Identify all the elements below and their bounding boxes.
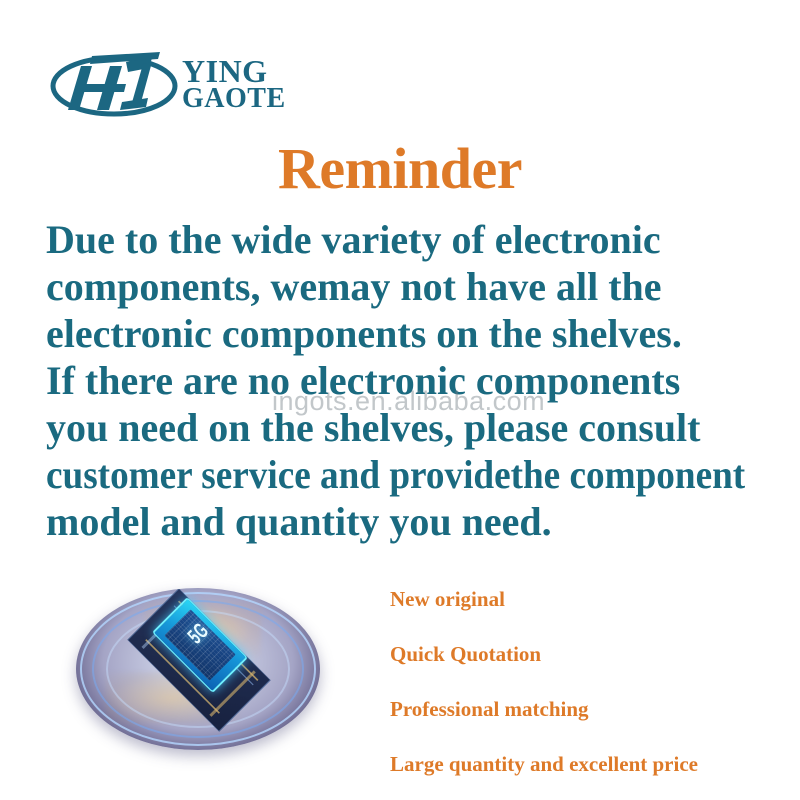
brand-wordmark: YING GAOTE xyxy=(182,56,332,113)
feature-item: Large quantity and excellent price xyxy=(390,737,790,792)
notice-line: components, wemay not have all the xyxy=(46,263,778,310)
notice-line: customer service and providethe componen… xyxy=(46,451,727,498)
notice-line: you need on the shelves, please consult xyxy=(46,404,778,451)
notice-line: model and quantity you need. xyxy=(46,498,778,545)
feature-item: Quick Quotation xyxy=(390,627,790,682)
notice-line: Due to the wide variety of electronic xyxy=(46,216,778,263)
feature-item: Professional matching xyxy=(390,682,790,737)
feature-item: New original xyxy=(390,572,790,627)
notice-line: If there are no electronic components xyxy=(46,357,778,404)
chip-disc: 5G xyxy=(76,588,320,750)
brand-name-line-2: GAOTE xyxy=(182,85,332,112)
notice-paragraph: Due to the wide variety of electronic co… xyxy=(46,216,778,545)
feature-list: New original Quick Quotation Professiona… xyxy=(390,572,790,792)
hg-monogram-ellipse-logo-icon xyxy=(48,50,180,122)
promo-banner: YING GAOTE Reminder Due to the wide vari… xyxy=(0,0,800,800)
brand-logo: YING GAOTE xyxy=(48,48,328,126)
notice-line: electronic components on the shelves. xyxy=(46,310,778,357)
5g-processor-chip-image-icon: 5G xyxy=(70,580,326,760)
page-title: Reminder xyxy=(0,140,800,198)
